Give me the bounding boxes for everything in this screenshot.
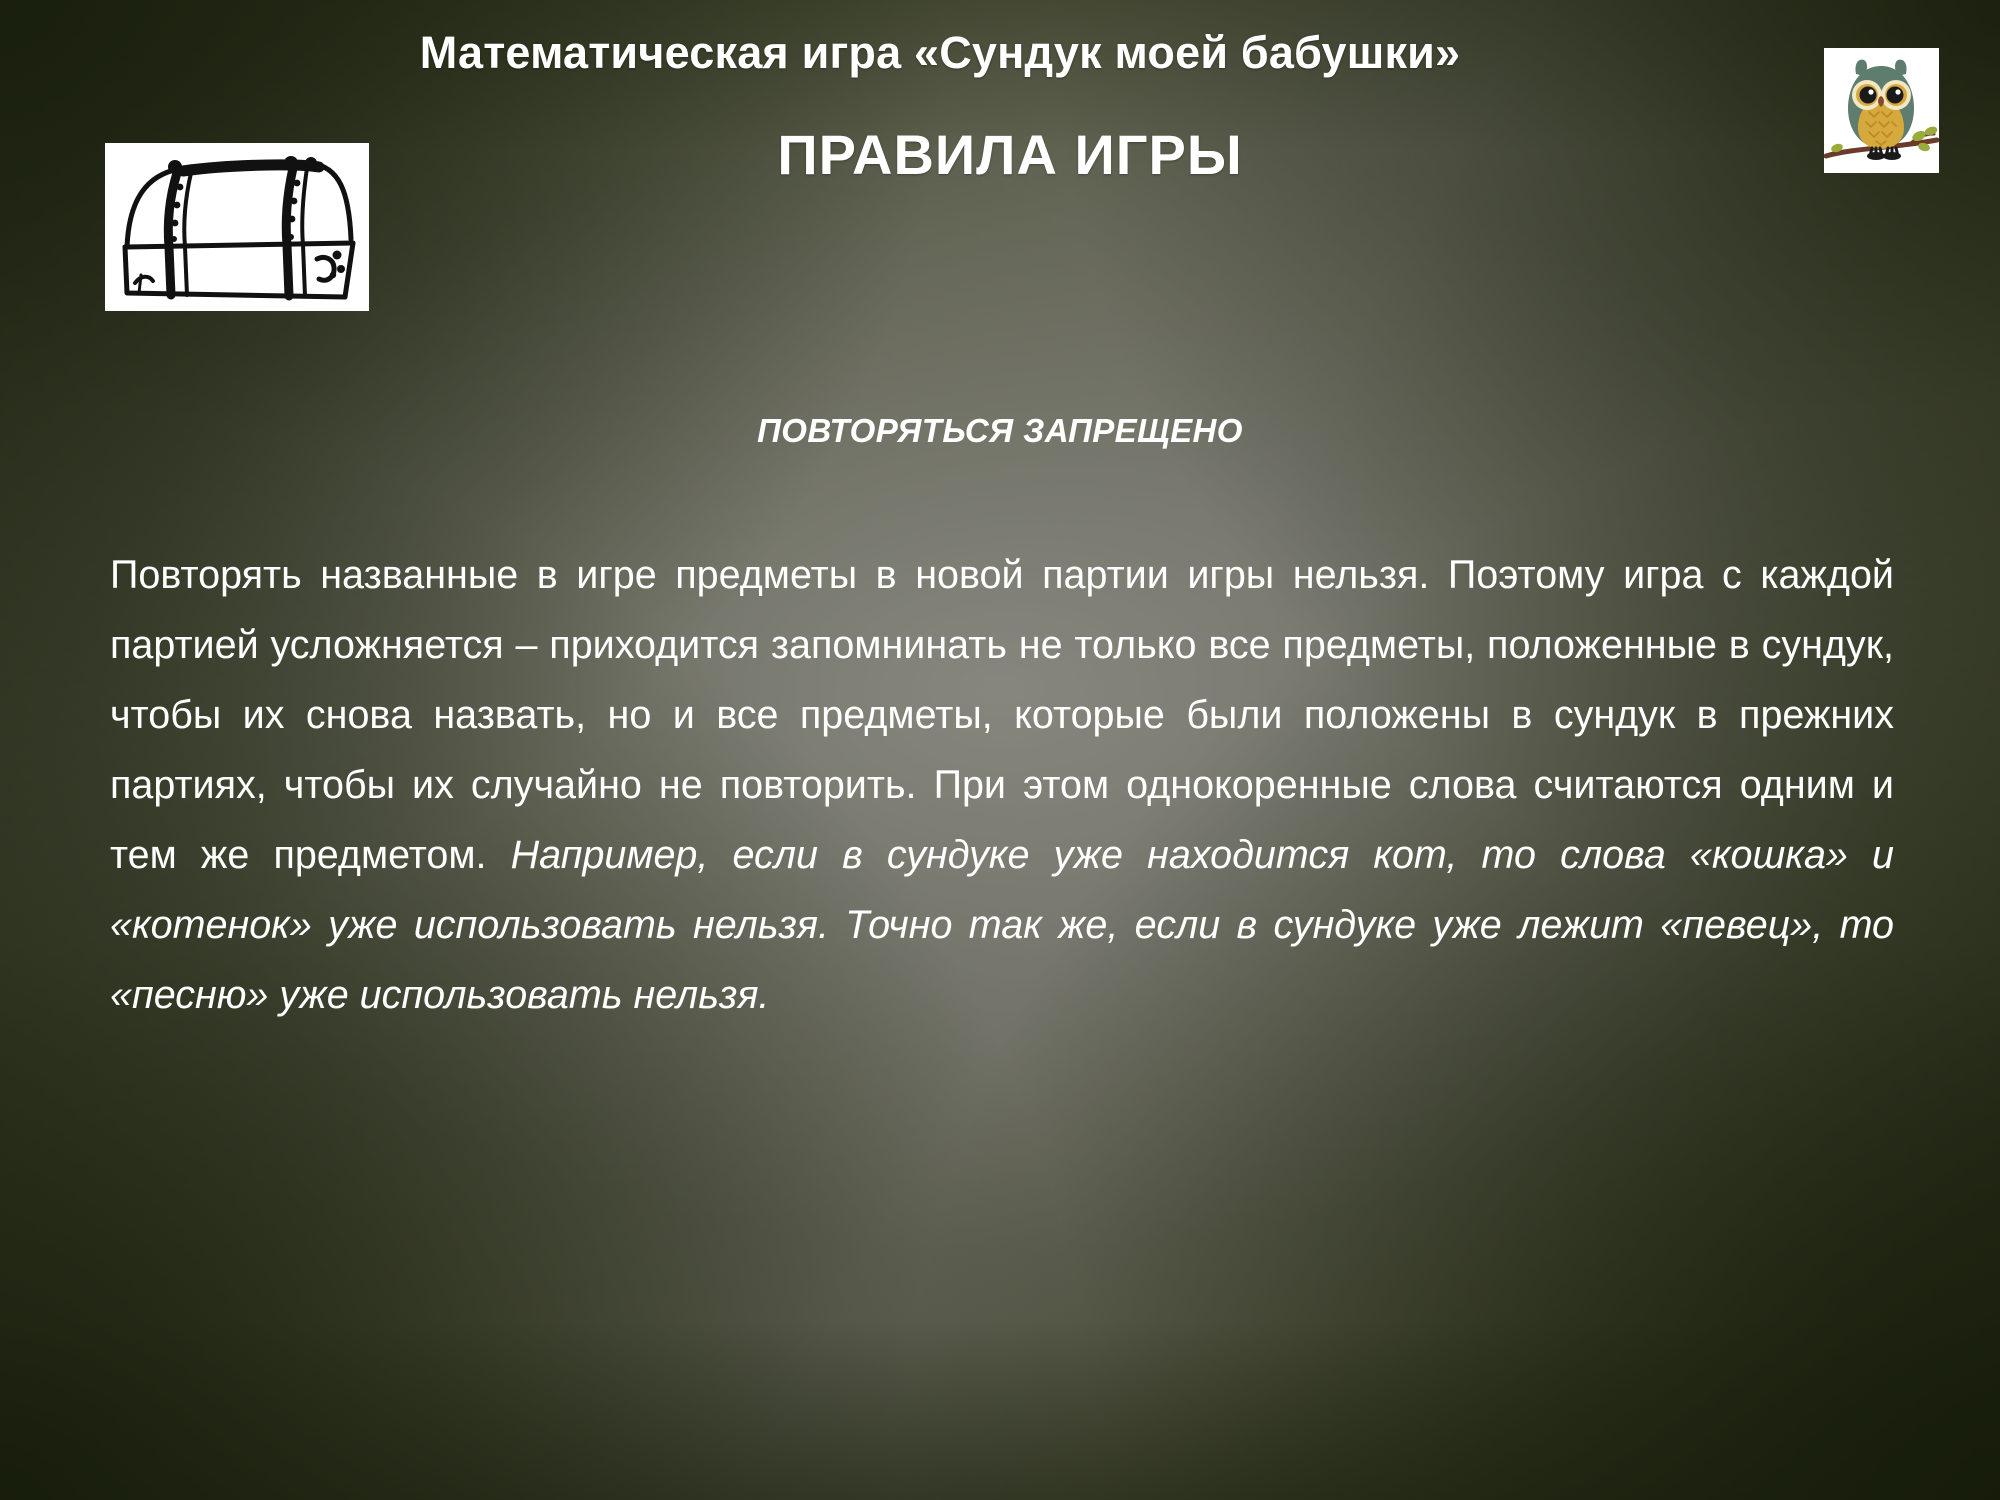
owl-image <box>1824 48 1939 173</box>
rules-subheading: ПОВТОРЯТЬСЯ ЗАПРЕЩЕНО <box>110 412 1890 450</box>
rules-heading: ПРАВИЛА ИГРЫ <box>320 122 1700 187</box>
rules-body-text: Повторять названные в игре предметы в но… <box>110 540 1894 1030</box>
rules-paragraph: Повторять названные в игре предметы в но… <box>110 540 1894 1030</box>
treasure-chest-image <box>105 143 369 311</box>
page-title: Математическая игра «Сундук моей бабушки… <box>250 28 1630 78</box>
slide-canvas: Математическая игра «Сундук моей бабушки… <box>0 0 2000 1500</box>
rules-body-plain: Повторять названные в игре предметы в но… <box>110 553 1894 877</box>
